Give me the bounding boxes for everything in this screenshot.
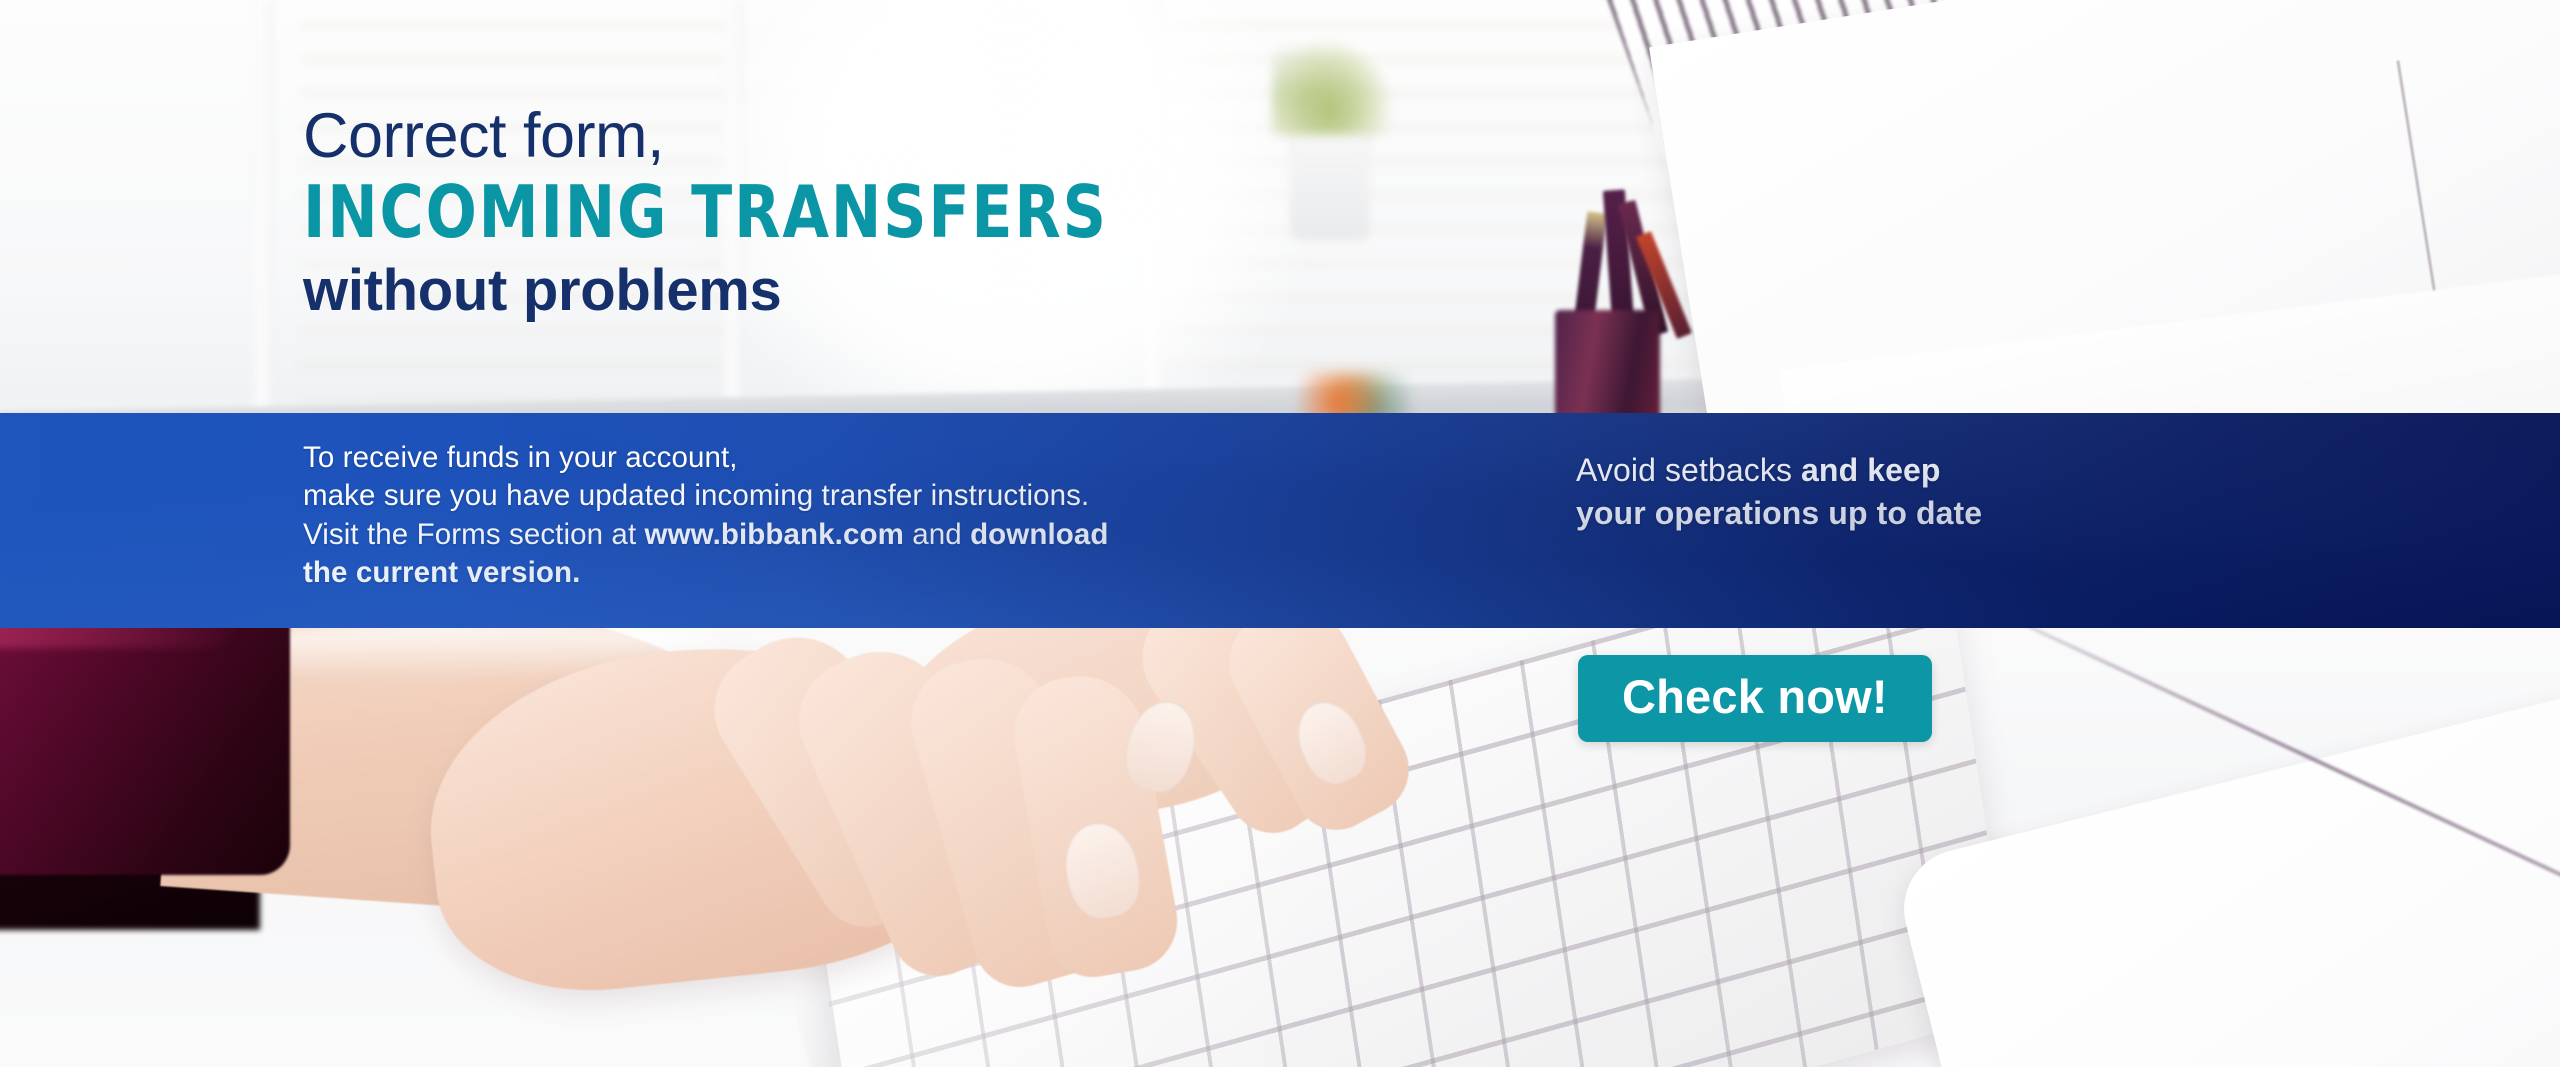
band-left-line-1: To receive funds in your account, <box>303 439 1109 477</box>
window-frame-a <box>250 0 276 430</box>
info-band: To receive funds in your account, make s… <box>0 413 2560 628</box>
band-left-line-2: make sure you have updated incoming tran… <box>303 477 1109 515</box>
band-left-url[interactable]: www.bibbank.com <box>645 518 904 551</box>
band-right-line-1: Avoid setbacks and keep <box>1576 449 1982 492</box>
band-left-text: To receive funds in your account, make s… <box>303 439 1109 592</box>
band-left-line-4-bold: the current version. <box>303 556 580 589</box>
band-left-download-word: download <box>970 518 1108 551</box>
pencil-cup <box>1555 310 1660 430</box>
headline-group: Correct form, INCOMING TRANSFERS without… <box>303 105 1168 322</box>
band-right-line-2-bold: your operations up to date <box>1576 495 1982 531</box>
band-left-line-3-prefix: Visit the Forms section at <box>303 518 645 551</box>
plant-leaves-icon <box>1272 40 1392 135</box>
band-right-line-1-bold: and keep <box>1801 452 1941 488</box>
band-left-line-4: the current version. <box>303 554 1109 592</box>
headline-line-3: without problems <box>303 261 1168 322</box>
band-right-line-1-regular: Avoid setbacks <box>1576 452 1801 488</box>
promo-banner: Correct form, INCOMING TRANSFERS without… <box>0 0 2560 1067</box>
band-right-line-2: your operations up to date <box>1576 492 1982 535</box>
band-right-text: Avoid setbacks and keep your operations … <box>1576 449 1982 534</box>
band-left-line-3: Visit the Forms section at www.bibbank.c… <box>303 516 1109 554</box>
headline-line-2: INCOMING TRANSFERS <box>303 176 1108 249</box>
band-left-line-3-mid: and <box>904 518 970 551</box>
headline-line-1: Correct form, <box>303 105 1168 168</box>
check-now-button[interactable]: Check now! <box>1578 655 1932 742</box>
